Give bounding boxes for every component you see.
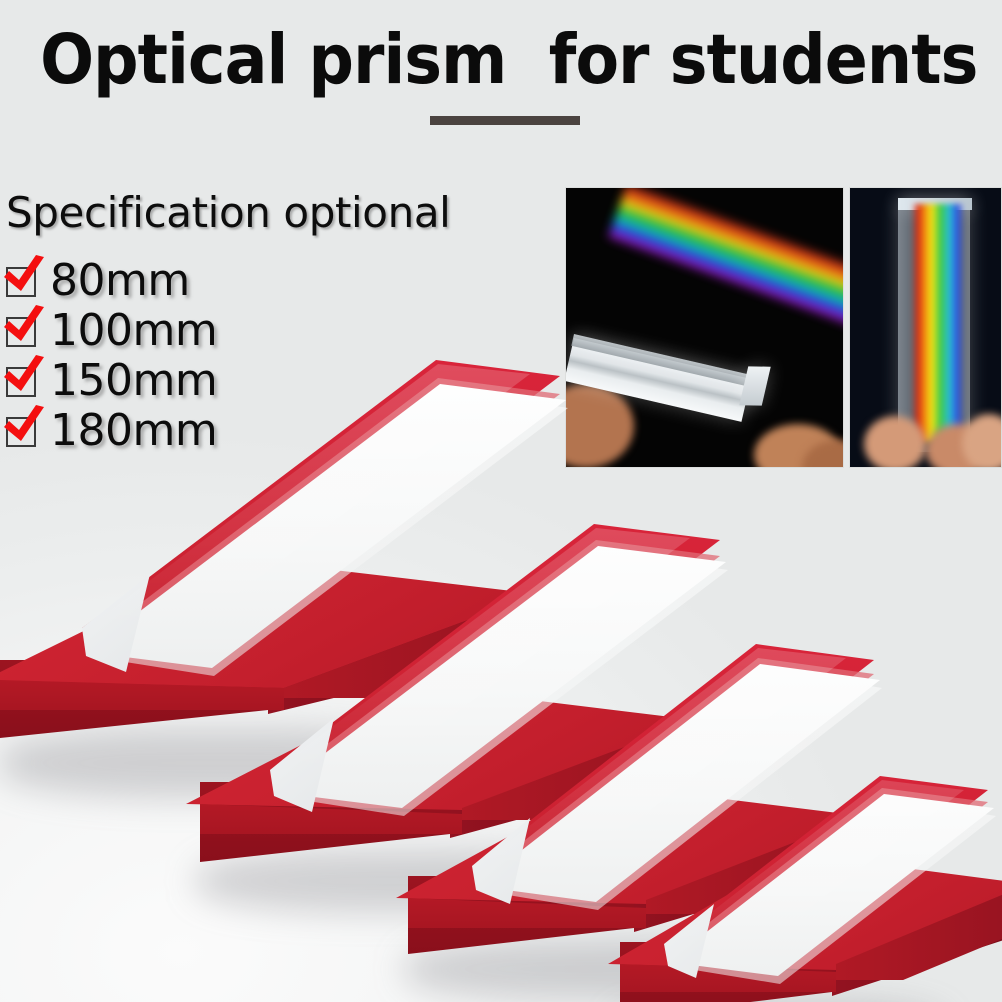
page-title: Optical prism for students: [40, 22, 962, 98]
check-icon: [0, 251, 48, 299]
rainbow-spectrum-band: [607, 187, 844, 341]
checkbox-80mm[interactable]: [4, 263, 40, 299]
title-divider: [430, 116, 580, 125]
spec-label: 80mm: [50, 258, 190, 304]
product-photo: [0, 330, 1002, 1002]
spec-option-80mm[interactable]: 80mm: [4, 256, 217, 306]
specification-heading: Specification optional: [6, 190, 450, 236]
product-banner: Optical prism for students Specification…: [0, 0, 1002, 1002]
